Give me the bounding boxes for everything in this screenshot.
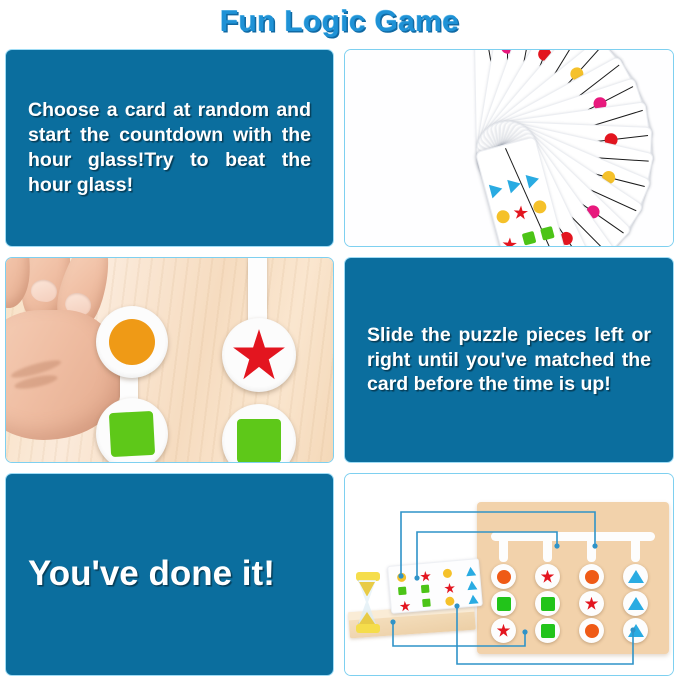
- instruction-2-text: Slide the puzzle pieces left or right un…: [367, 323, 651, 398]
- card-fan-illustration: [345, 50, 673, 246]
- connector-lines: [345, 474, 673, 675]
- panel-cell-hand-pieces: [0, 252, 339, 468]
- page-title: Fun Logic Game: [220, 5, 459, 39]
- connector-path-2: [417, 532, 557, 578]
- star-icon: [500, 236, 518, 247]
- triangle-icon: [526, 172, 541, 189]
- panel-cell-instruction-3: You've done it!: [0, 468, 339, 681]
- connector-endpoints: [390, 543, 635, 634]
- panel-instruction-1: Choose a card at random and start the co…: [5, 49, 334, 247]
- connector-path-1: [401, 512, 595, 576]
- panel-hand-pieces: [5, 257, 334, 463]
- panel-board-scene: [344, 473, 674, 676]
- green-square-icon: [109, 411, 155, 457]
- instruction-3-text: You've done it!: [28, 555, 275, 594]
- panel-cell-board-scene: [339, 468, 679, 681]
- circle-icon: [495, 209, 511, 225]
- red-star-icon: [232, 328, 286, 382]
- triangle-icon: [507, 177, 522, 194]
- connector-path-3: [393, 622, 525, 646]
- square-icon: [540, 226, 555, 241]
- instruction-1-text: Choose a card at random and start the co…: [28, 98, 311, 198]
- title-bar: Fun Logic Game: [0, 0, 679, 44]
- connector-svg: [345, 474, 674, 676]
- square-icon: [522, 231, 537, 246]
- triangle-icon: [489, 182, 504, 199]
- green-square-icon: [237, 419, 281, 463]
- fingernail: [29, 278, 58, 304]
- star-icon: [512, 204, 530, 222]
- panel-cell-card-fan: [339, 44, 679, 252]
- panel-cell-instruction-1: Choose a card at random and start the co…: [0, 44, 339, 252]
- circle-icon: [532, 199, 548, 215]
- connector-path-4: [457, 606, 633, 664]
- panel-instruction-3: You've done it!: [5, 473, 334, 676]
- board-scene-illustration: [345, 474, 673, 675]
- orange-circle-icon: [109, 319, 155, 365]
- puzzle-piece-top[interactable]: [222, 318, 296, 392]
- puzzle-piece-bottom[interactable]: [96, 398, 168, 463]
- panel-card-fan: [344, 49, 674, 247]
- panel-instruction-2: Slide the puzzle pieces left or right un…: [344, 257, 674, 463]
- panel-grid: Choose a card at random and start the co…: [0, 44, 679, 681]
- panel-cell-instruction-2: Slide the puzzle pieces left or right un…: [339, 252, 679, 468]
- puzzle-piece-top[interactable]: [96, 306, 168, 378]
